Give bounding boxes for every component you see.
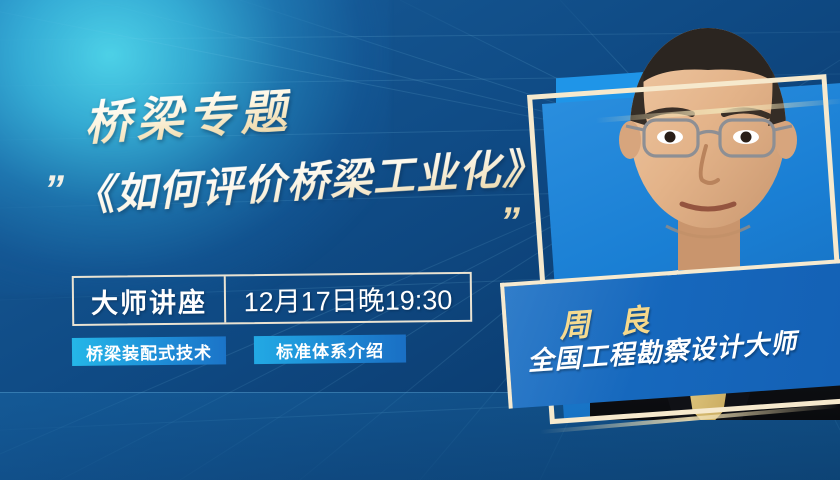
quote-open-mark: ” xyxy=(44,170,61,210)
page-subtitle: 《如何评价桥梁工业化》 xyxy=(71,146,546,218)
speaker-info-panel: 周 良 全国工程勘察设计大师 xyxy=(500,258,840,408)
topic-tag-list: 桥梁装配式技术 标准体系介绍 xyxy=(72,335,406,366)
background-glow xyxy=(0,0,390,295)
subtitle-group: ” 《如何评价桥梁工业化》 ” xyxy=(40,168,560,244)
event-datetime: 12月17日晚19:30 xyxy=(226,274,470,323)
topic-tag-2: 标准体系介绍 xyxy=(254,335,406,365)
event-info-box: 大师讲座 12月17日晚19:30 xyxy=(72,272,473,326)
page-title: 桥梁专题 xyxy=(83,87,294,147)
topic-tag-1: 桥梁装配式技术 xyxy=(72,336,226,366)
event-type-label: 大师讲座 xyxy=(74,276,224,324)
quote-close-mark: ” xyxy=(500,202,517,242)
lecture-poster: 桥梁专题 ” 《如何评价桥梁工业化》 ” 大师讲座 12月17日晚19:30 桥… xyxy=(0,0,840,480)
